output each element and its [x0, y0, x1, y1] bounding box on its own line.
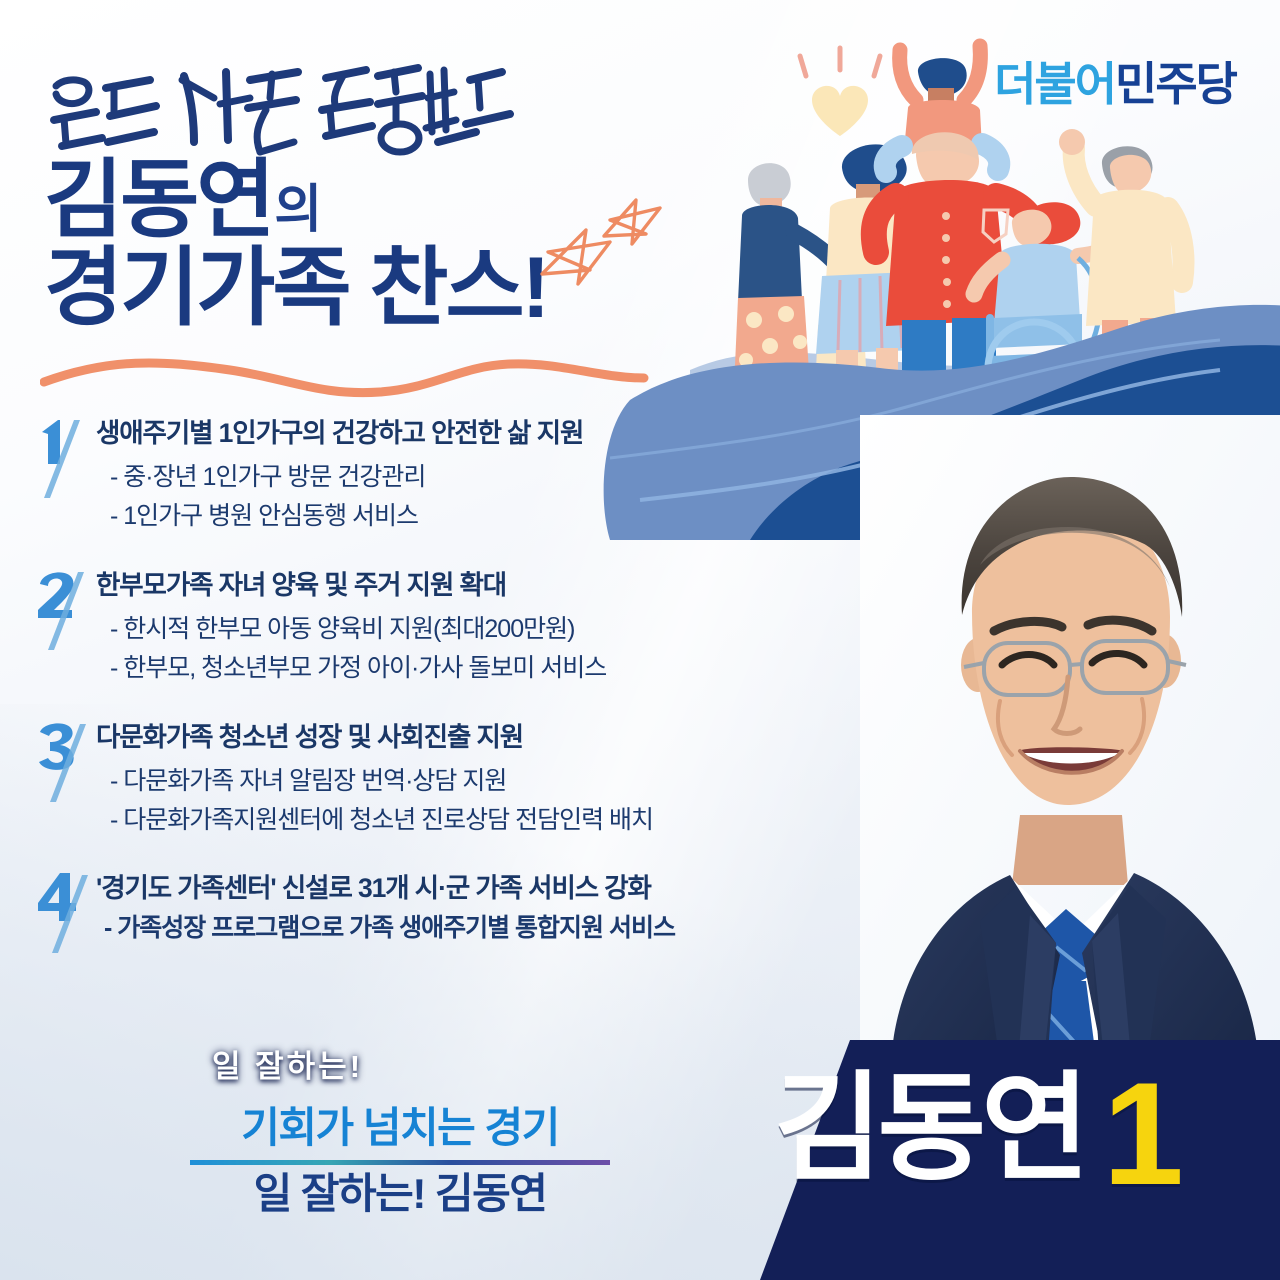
- banner-candidate-name: 김동연: [774, 1070, 1085, 1188]
- policy-title-2: 한부모가족 자녀 양육 및 주거 지원 확대: [96, 570, 894, 601]
- slogan-divider: [190, 1160, 610, 1165]
- policy-item-4: '경기도 가족센터' 신설로 31개 시·군 가족 서비스 강화 - 가족성장 …: [34, 873, 894, 947]
- policy-title-1: 생애주기별 1인가구의 건강하고 안전한 삶 지원: [96, 418, 894, 449]
- campaign-poster: 김동연 의 경기가족 찬스! 더불어민주당: [0, 0, 1280, 1280]
- policy-item-2: 한부모가족 자녀 양육 및 주거 지원 확대 - 한시적 한부모 아동 양육비 …: [34, 570, 894, 688]
- policy-title-4: '경기도 가족센터' 신설로 31개 시·군 가족 서비스 강화: [96, 873, 894, 904]
- banner-subtitle: 일 잘하는!: [212, 1041, 363, 1086]
- banner-ballot-number: 1: [1103, 1070, 1184, 1198]
- policy-sub-2-1: - 한시적 한부모 아동 양육비 지원(최대200만원): [96, 610, 894, 649]
- policy-sub-4-1: - 가족성장 프로그램으로 가족 생애주기별 통합지원 서비스: [96, 909, 894, 948]
- heart-icon: [800, 48, 880, 136]
- policy-sub-3-2: - 다문화가족지원센터에 청소년 진로상담 전담인력 배치: [96, 801, 894, 840]
- policy-number-1-icon: [34, 414, 90, 500]
- title-candidate-name: 김동연: [44, 160, 272, 242]
- policy-sub-2-2: - 한부모, 청소년부모 가정 아이·가사 돌보미 서비스: [96, 649, 894, 688]
- policy-list: 생애주기별 1인가구의 건강하고 안전한 삶 지원 - 중·장년 1인가구 방문…: [34, 418, 894, 947]
- slogan-line-2: 일 잘하는! 김동연: [190, 1171, 610, 1217]
- wavy-underline-decoration: [40, 352, 650, 400]
- policy-number-4-icon: [34, 869, 90, 955]
- policy-sub-1-2: - 1인가구 병원 안심동행 서비스: [96, 497, 894, 536]
- policy-number-3-icon: [34, 718, 90, 804]
- candidate-photo: [860, 415, 1280, 1135]
- policy-item-1: 생애주기별 1인가구의 건강하고 안전한 삶 지원 - 중·장년 1인가구 방문…: [34, 418, 894, 536]
- policy-sub-3-1: - 다문화가족 자녀 알림장 번역·상담 지원: [96, 762, 894, 801]
- policy-title-3: 다문화가족 청소년 성장 및 사회진출 지원: [96, 722, 894, 753]
- campaign-slogan: 기회가 넘치는 경기 일 잘하는! 김동연: [190, 1105, 610, 1217]
- policy-item-3: 다문화가족 청소년 성장 및 사회진출 지원 - 다문화가족 자녀 알림장 번역…: [34, 722, 894, 840]
- policy-sub-1-1: - 중·장년 1인가구 방문 건강관리: [96, 458, 894, 497]
- title-slogan: 경기가족 찬스!: [44, 248, 547, 330]
- slogan-line-1: 기회가 넘치는 경기: [190, 1105, 610, 1151]
- policy-number-2-icon: [34, 566, 90, 652]
- title-particle: 의: [274, 186, 321, 241]
- banner-name-group: 김동연 1: [760, 1030, 1280, 1280]
